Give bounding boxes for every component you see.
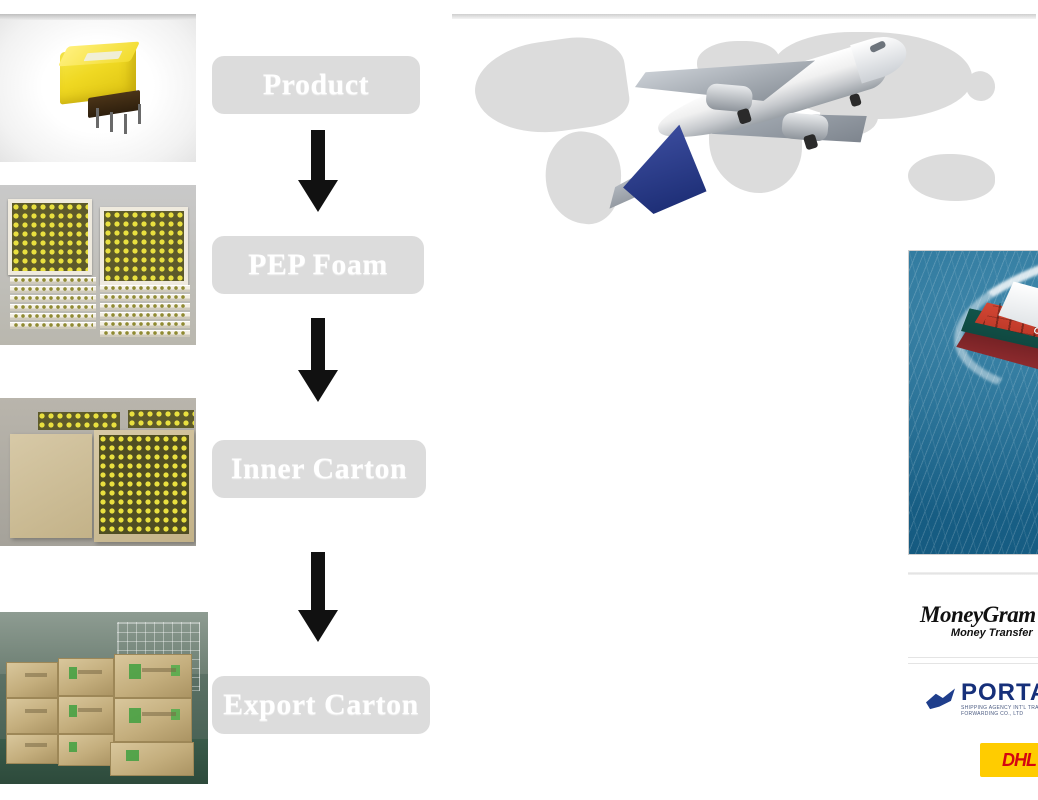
photo-backdrop xyxy=(0,185,196,345)
pep-foam-photo xyxy=(0,185,196,345)
down-arrow-icon xyxy=(298,318,338,406)
transformer-component-icon xyxy=(52,42,148,128)
courier-logos-row: DHL T N T FedEx Express UPS EMS xyxy=(980,734,1038,786)
moneygram-tagline: Money Transfer xyxy=(951,627,1033,639)
carton-lid xyxy=(10,434,92,538)
photo-backdrop xyxy=(0,612,208,784)
dhl-wordmark: DHL xyxy=(1002,750,1036,771)
moneygram-wordmark: MoneyGram xyxy=(920,602,1036,628)
portalan-wordmark: PORTALAN xyxy=(961,681,1038,705)
carton-box xyxy=(94,430,194,542)
bird-icon xyxy=(926,687,955,711)
moneygram-logo: MoneyGram Money Transfer xyxy=(920,593,1038,637)
photo-backdrop xyxy=(0,398,196,546)
flow-step-label-export-carton: Export Carton xyxy=(212,676,430,734)
tray xyxy=(100,207,188,285)
product-photo xyxy=(0,14,196,162)
flow-step-label-pep-foam: PEP Foam xyxy=(212,236,424,294)
flow-step-label-product: Product xyxy=(212,56,420,114)
down-arrow-icon xyxy=(298,552,338,646)
export-carton-photo xyxy=(0,612,208,784)
portalan-tagline: SHIPPING AGENCY INT'L TRANSPORT & FORWAR… xyxy=(961,705,1038,717)
flow-step-label-inner-carton: Inner Carton xyxy=(212,440,426,498)
portalan-logo: PORTALAN SHIPPING AGENCY INT'L TRANSPORT… xyxy=(926,681,1038,717)
section-divider xyxy=(908,663,1038,664)
section-divider xyxy=(908,572,1038,575)
tray xyxy=(8,199,92,275)
inner-carton-photo xyxy=(0,398,196,546)
down-arrow-icon xyxy=(298,130,338,214)
section-divider xyxy=(908,657,1038,658)
shipping-panel: CHINA SHIPPING LINE MoneyGram Money Tran… xyxy=(450,0,1038,800)
dhl-logo: DHL xyxy=(980,743,1038,777)
packing-and-shipping-infographic: Product PEP Foam Inner Carton Export Car… xyxy=(0,0,1038,800)
payment-logos-row: MoneyGram Money Transfer WESTERN UNION M… xyxy=(910,582,1038,648)
air-freight-banner xyxy=(452,14,1036,236)
sea-freight-photo: CHINA SHIPPING LINE xyxy=(908,250,1038,555)
freight-partner-logos-row: PORTALAN SHIPPING AGENCY INT'L TRANSPORT… xyxy=(910,672,1038,726)
